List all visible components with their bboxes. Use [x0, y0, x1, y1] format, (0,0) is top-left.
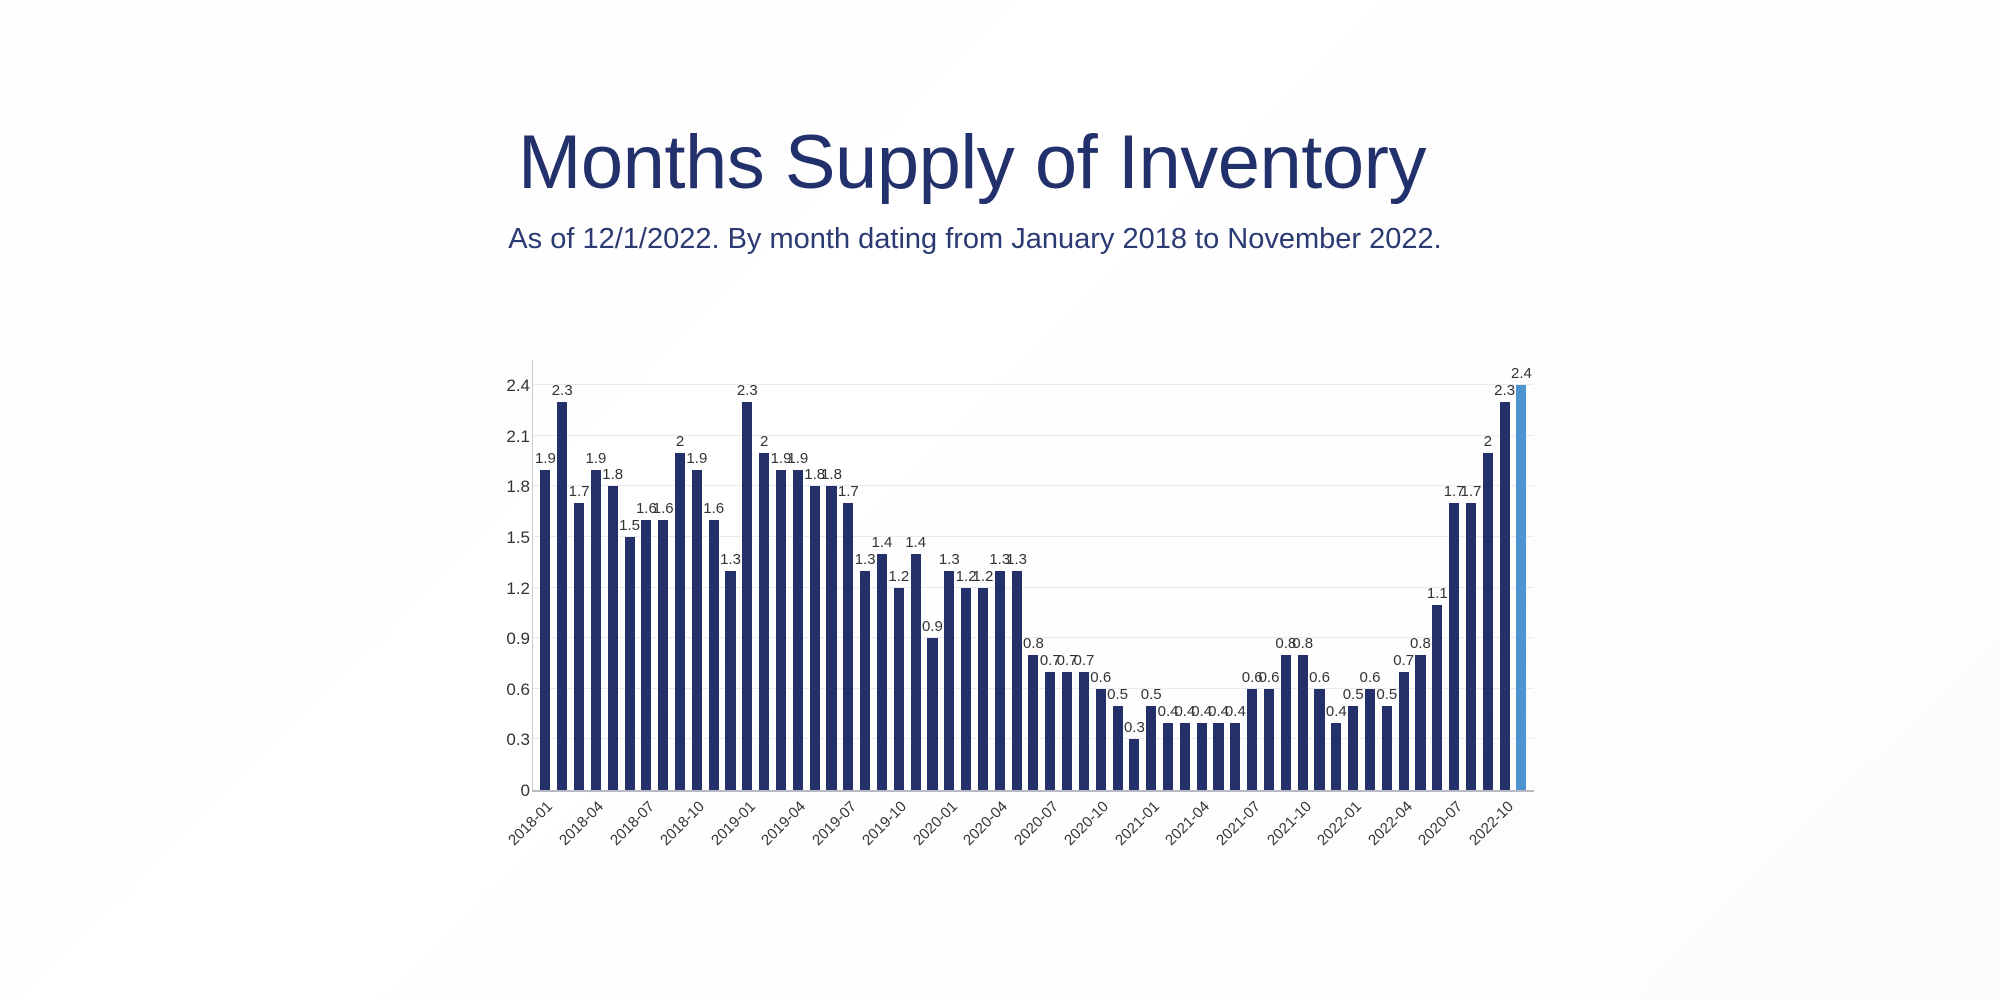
bar[interactable]: 0.6	[1365, 689, 1375, 790]
bar[interactable]: 1.1	[1432, 605, 1442, 790]
bar-slot: 0.4	[1193, 360, 1210, 790]
bar[interactable]: 2	[759, 453, 769, 790]
x-axis-tick-label: 2019-01	[708, 798, 759, 849]
x-axis-tick-label: 2020-07	[1011, 798, 1062, 849]
bar-slot: 1.3	[941, 360, 958, 790]
bar-value-label: 1.6	[703, 500, 724, 517]
x-axis-tick-label: 2019-07	[809, 798, 860, 849]
bar-value-label: 1.6	[636, 500, 657, 517]
bar[interactable]: 0.6	[1314, 689, 1324, 790]
x-axis-tick-label: 2018-04	[556, 798, 607, 849]
bar-slot: 1.6	[655, 360, 672, 790]
bar[interactable]: 2.3	[1500, 402, 1510, 790]
bar[interactable]: 1.3	[944, 571, 954, 790]
y-axis-tick-label: 2.1	[476, 427, 530, 447]
bar-slot: 0.7	[1059, 360, 1076, 790]
bar-slot: 0.3	[1126, 360, 1143, 790]
bar-slot: 0.8	[1412, 360, 1429, 790]
bar-value-label: 1.2	[956, 568, 977, 585]
bar-slot: 0.8	[1277, 360, 1294, 790]
bar-slot: 0.4	[1227, 360, 1244, 790]
bar-slot: 1.4	[874, 360, 891, 790]
bar-slot: 1.9	[587, 360, 604, 790]
bar[interactable]: 1.8	[608, 486, 618, 790]
x-axis-tick-label: 2021-07	[1213, 798, 1264, 849]
bar[interactable]: 0.3	[1129, 739, 1139, 790]
bar[interactable]: 1.6	[709, 520, 719, 790]
x-axis-tick-label: 2018-07	[607, 798, 658, 849]
bar-value-label: 1.3	[855, 551, 876, 568]
bar[interactable]: 0.7	[1045, 672, 1055, 790]
y-axis-tick-label: 0	[476, 781, 530, 801]
bar-slot: 1.3	[991, 360, 1008, 790]
y-axis-tick-label: 1.2	[476, 579, 530, 599]
bar-slot: 1.8	[604, 360, 621, 790]
bar-value-label: 1.7	[838, 483, 859, 500]
bar-slot: 0.8	[1294, 360, 1311, 790]
chart-subtitle: As of 12/1/2022. By month dating from Ja…	[0, 201, 2000, 256]
bar-slot: 2.4	[1513, 360, 1530, 790]
bar-slot: 0.5	[1345, 360, 1362, 790]
bar-slot: 0.4	[1328, 360, 1345, 790]
bar-value-label: 2.3	[552, 382, 573, 399]
bar-value-label: 0.4	[1174, 703, 1195, 720]
y-axis-tick-label: 0.6	[476, 680, 530, 700]
bar-value-label: 2.4	[1511, 365, 1532, 382]
bar-slot: 1.9	[688, 360, 705, 790]
bar-value-label: 1.9	[787, 450, 808, 467]
bar-value-label: 0.4	[1158, 703, 1179, 720]
bar-slot: 1.2	[975, 360, 992, 790]
bar[interactable]: 1.3	[995, 571, 1005, 790]
bar-slot: 0.4	[1176, 360, 1193, 790]
bar-value-label: 0.5	[1141, 686, 1162, 703]
bar[interactable]: 2	[675, 453, 685, 790]
bar-value-label: 0.7	[1073, 652, 1094, 669]
bar[interactable]: 1.6	[658, 520, 668, 790]
bar[interactable]: 0.8	[1298, 655, 1308, 790]
bar-value-label: 2.3	[737, 382, 758, 399]
x-axis-tick-label: 2018-10	[657, 798, 708, 849]
bar[interactable]: 1.7	[1449, 503, 1459, 790]
bar-value-label: 1.5	[619, 517, 640, 534]
bar-slot: 1.2	[958, 360, 975, 790]
bar-slot: 2.3	[739, 360, 756, 790]
bar-value-label: 0.6	[1309, 669, 1330, 686]
bar-value-label: 0.6	[1242, 669, 1263, 686]
x-axis-tick-label: 2019-10	[859, 798, 910, 849]
x-axis-tick-label: 2020-01	[910, 798, 961, 849]
bar[interactable]: 0.6	[1096, 689, 1106, 790]
bar-value-label: 2	[676, 433, 684, 450]
bar-value-label: 1.8	[602, 466, 623, 483]
bar-value-label: 1.3	[720, 551, 741, 568]
bar[interactable]: 0.8	[1028, 655, 1038, 790]
bar-value-label: 0.6	[1259, 669, 1280, 686]
bar[interactable]: 2.3	[742, 402, 752, 790]
bar[interactable]: 0.7	[1399, 672, 1409, 790]
x-axis-tick-label: 2018-01	[505, 798, 556, 849]
x-axis-tick-label: 2019-04	[758, 798, 809, 849]
bar-slot: 2.3	[554, 360, 571, 790]
bar[interactable]: 0.6	[1247, 689, 1257, 790]
bar-value-label: 0.5	[1343, 686, 1364, 703]
x-axis-tick-label: 2022-04	[1365, 798, 1416, 849]
bar-value-label: 0.4	[1326, 703, 1347, 720]
bar-slot: 1.3	[1008, 360, 1025, 790]
bar[interactable]: 1.2	[978, 588, 988, 790]
bar[interactable]: 1.5	[625, 537, 635, 790]
bar-slot: 1.3	[722, 360, 739, 790]
bar-value-label: 0.8	[1275, 635, 1296, 652]
bar[interactable]: 0.8	[1415, 655, 1425, 790]
x-axis: 2018-012018-042018-072018-102019-012019-…	[536, 798, 1530, 888]
bar[interactable]: 0.4	[1331, 723, 1341, 790]
bar-slot: 1.1	[1429, 360, 1446, 790]
x-axis-tick-label: 2020-07	[1415, 798, 1466, 849]
x-axis-tick-label: 2021-04	[1163, 798, 1214, 849]
bar-slot: 2.3	[1496, 360, 1513, 790]
bar[interactable]: 0.4	[1180, 723, 1190, 790]
bar-slot: 1.9	[789, 360, 806, 790]
bar[interactable]: 0.5	[1382, 706, 1392, 790]
bar[interactable]: 1.9	[793, 470, 803, 790]
bar-value-label: 1.9	[535, 450, 556, 467]
chart-page: Months Supply of Inventory As of 12/1/20…	[0, 0, 2000, 1000]
bar[interactable]: 1.9	[776, 470, 786, 790]
x-axis-tick-label: 2020-10	[1061, 798, 1112, 849]
x-axis-tick-label: 2021-10	[1264, 798, 1315, 849]
bar-value-label: 1.4	[872, 534, 893, 551]
bar-value-label: 0.4	[1208, 703, 1229, 720]
bar[interactable]: 2	[1483, 453, 1493, 790]
x-axis-tick-label: 2022-01	[1314, 798, 1365, 849]
bar[interactable]: 1.7	[1466, 503, 1476, 790]
bar[interactable]: 1.8	[826, 486, 836, 790]
bar-value-label: 1.3	[1006, 551, 1027, 568]
bar-value-label: 0.5	[1376, 686, 1397, 703]
bar-slot: 1.5	[621, 360, 638, 790]
bar-slot: 0.6	[1362, 360, 1379, 790]
bar-value-label: 1.7	[1444, 483, 1465, 500]
bar-value-label: 1.2	[888, 568, 909, 585]
bar-slot: 2	[756, 360, 773, 790]
y-axis-tick-label: 2.4	[476, 376, 530, 396]
bar[interactable]: 0.7	[1079, 672, 1089, 790]
bar-slot: 1.2	[890, 360, 907, 790]
bar[interactable]: 0.8	[1281, 655, 1291, 790]
bar-value-label: 1.7	[569, 483, 590, 500]
bar[interactable]: 1.6	[641, 520, 651, 790]
bar[interactable]: 1.4	[877, 554, 887, 790]
bar[interactable]: 1.8	[810, 486, 820, 790]
bar[interactable]: 1.9	[591, 470, 601, 790]
bar-slot: 0.8	[1025, 360, 1042, 790]
bar-value-label: 0.7	[1040, 652, 1061, 669]
bar-slot: 0.5	[1109, 360, 1126, 790]
y-axis-tick-label: 1.5	[476, 528, 530, 548]
bar-slot: 1.8	[823, 360, 840, 790]
bar[interactable]: 0.4	[1197, 723, 1207, 790]
bar[interactable]: 0.5	[1113, 706, 1123, 790]
bar-value-label: 1.1	[1427, 585, 1448, 602]
bar-value-label: 0.9	[922, 618, 943, 635]
bar-slot: 1.9	[773, 360, 790, 790]
bar-value-label: 0.8	[1410, 635, 1431, 652]
bar-slot: 1.8	[806, 360, 823, 790]
bar[interactable]: 0.5	[1348, 706, 1358, 790]
bar-chart: 00.30.60.91.21.51.82.12.4 1.92.31.71.91.…	[490, 352, 1550, 792]
bar-value-label: 0.6	[1360, 669, 1381, 686]
chart-header: Months Supply of Inventory As of 12/1/20…	[0, 0, 2000, 256]
plot-area: 00.30.60.91.21.51.82.12.4 1.92.31.71.91.…	[532, 360, 1534, 792]
bar-value-label: 1.9	[771, 450, 792, 467]
bar-slot: 0.4	[1160, 360, 1177, 790]
bar[interactable]: 1.3	[1012, 571, 1022, 790]
bar[interactable]: 0.5	[1146, 706, 1156, 790]
bar[interactable]: 1.7	[574, 503, 584, 790]
bar-value-label: 0.3	[1124, 719, 1145, 736]
bar-value-label: 2	[1484, 433, 1492, 450]
bar-value-label: 1.9	[585, 450, 606, 467]
bar-slot: 2	[1479, 360, 1496, 790]
bar-slot: 1.9	[537, 360, 554, 790]
bar-slot: 0.9	[924, 360, 941, 790]
bar[interactable]: 0.4	[1230, 723, 1240, 790]
bar-value-label: 1.2	[973, 568, 994, 585]
bar-slot: 1.6	[705, 360, 722, 790]
bar-slot: 0.5	[1378, 360, 1395, 790]
x-axis-tick-label: 2022-10	[1466, 798, 1517, 849]
bar[interactable]: 1.2	[894, 588, 904, 790]
bar[interactable]: 1.9	[540, 470, 550, 790]
page-title: Months Supply of Inventory	[0, 0, 2000, 201]
bar-value-label: 0.8	[1292, 635, 1313, 652]
bar[interactable]: 1.4	[911, 554, 921, 790]
bar-slot: 0.5	[1143, 360, 1160, 790]
bar-series: 1.92.31.71.91.81.51.61.621.91.61.32.321.…	[537, 360, 1530, 790]
bar-value-label: 2	[760, 433, 768, 450]
y-axis-tick-label: 1.8	[476, 477, 530, 497]
bar-slot: 0.7	[1395, 360, 1412, 790]
bar[interactable]: 1.2	[961, 588, 971, 790]
bar-value-label: 1.3	[989, 551, 1010, 568]
bar-value-label: 1.3	[939, 551, 960, 568]
bar-value-label: 0.4	[1225, 703, 1246, 720]
bar[interactable]: 2.3	[557, 402, 567, 790]
bar-value-label: 1.8	[804, 466, 825, 483]
bar-slot: 1.4	[907, 360, 924, 790]
bar-slot: 1.7	[1446, 360, 1463, 790]
bar-value-label: 0.8	[1023, 635, 1044, 652]
bar[interactable]: 0.7	[1062, 672, 1072, 790]
bar[interactable]: 1.3	[860, 571, 870, 790]
bar-slot: 1.3	[857, 360, 874, 790]
x-axis-tick-label: 2021-01	[1112, 798, 1163, 849]
x-axis-tick-label: 2020-04	[960, 798, 1011, 849]
bar-slot: 1.6	[638, 360, 655, 790]
bar-value-label: 1.8	[821, 466, 842, 483]
bar[interactable]: 0.9	[927, 638, 937, 790]
bar-value-label: 1.7	[1461, 483, 1482, 500]
bar[interactable]: 0.4	[1213, 723, 1223, 790]
bar[interactable]: 2.4	[1516, 385, 1526, 790]
bar-value-label: 0.5	[1107, 686, 1128, 703]
bar-slot: 1.7	[1463, 360, 1480, 790]
bar-value-label: 2.3	[1494, 382, 1515, 399]
bar-value-label: 1.4	[905, 534, 926, 551]
y-axis-tick-label: 0.9	[476, 629, 530, 649]
bar[interactable]: 0.4	[1163, 723, 1173, 790]
bar-value-label: 0.4	[1191, 703, 1212, 720]
y-axis-tick-label: 0.3	[476, 730, 530, 750]
bar-slot: 0.6	[1311, 360, 1328, 790]
bar-slot: 0.7	[1042, 360, 1059, 790]
bar-value-label: 1.9	[686, 450, 707, 467]
bar-value-label: 1.6	[653, 500, 674, 517]
bar-value-label: 0.7	[1393, 652, 1414, 669]
bar-slot: 0.4	[1210, 360, 1227, 790]
bar-slot: 0.6	[1244, 360, 1261, 790]
bar[interactable]: 1.3	[725, 571, 735, 790]
bar-slot: 0.7	[1076, 360, 1093, 790]
bar-slot: 0.6	[1092, 360, 1109, 790]
bar[interactable]: 1.9	[692, 470, 702, 790]
bar[interactable]: 0.6	[1264, 689, 1274, 790]
bar[interactable]: 1.7	[843, 503, 853, 790]
bar-slot: 2	[672, 360, 689, 790]
bar-slot: 1.7	[571, 360, 588, 790]
bar-slot: 0.6	[1261, 360, 1278, 790]
bar-slot: 1.7	[840, 360, 857, 790]
bar-value-label: 0.7	[1057, 652, 1078, 669]
bar-value-label: 0.6	[1090, 669, 1111, 686]
